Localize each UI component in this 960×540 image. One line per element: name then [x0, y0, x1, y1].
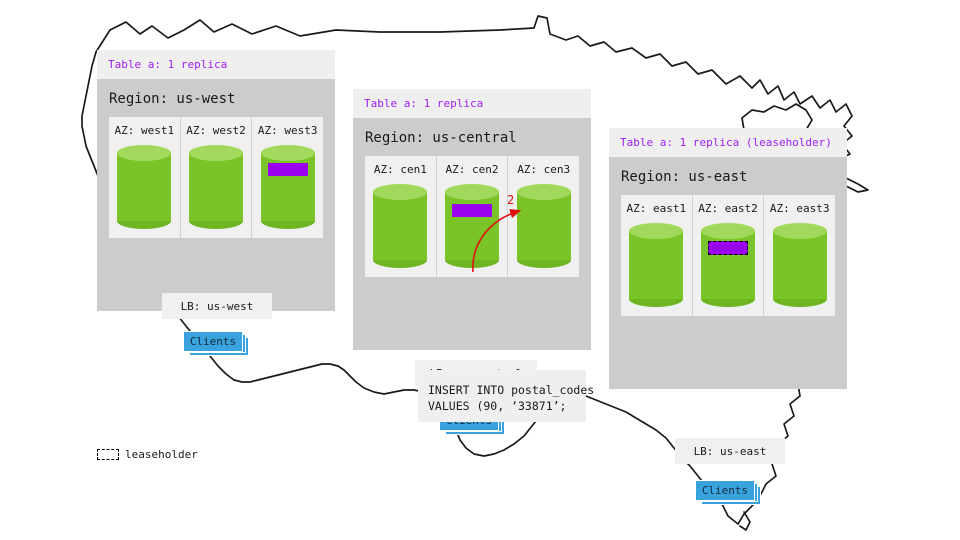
az-cell-cen3[interactable]: AZ: cen3 — [507, 156, 579, 277]
region-body-us-west: Region: us-west AZ: west1 AZ: west2 — [97, 79, 335, 311]
cylinder-body — [189, 153, 243, 221]
az-label-cen3: AZ: cen3 — [508, 163, 579, 176]
az-label-west1: AZ: west1 — [109, 124, 180, 137]
sql-statement-box: INSERT INTO postal_codes VALUES (90, ‘33… — [418, 370, 586, 422]
clients-card-front[interactable]: Clients — [695, 480, 755, 501]
range-replica-west3[interactable] — [268, 163, 308, 176]
az-cell-cen2[interactable]: AZ: cen2 — [436, 156, 508, 277]
cylinder-top — [629, 223, 683, 239]
az-row-us-central: AZ: cen1 AZ: cen2 — [365, 156, 579, 277]
load-balancer-us-east[interactable]: LB: us-east — [675, 438, 785, 464]
cylinder-top — [773, 223, 827, 239]
cylinder-top — [445, 184, 499, 200]
cylinder-top — [117, 145, 171, 161]
az-label-west2: AZ: west2 — [181, 124, 252, 137]
az-label-cen1: AZ: cen1 — [365, 163, 436, 176]
range-replica-cen2[interactable] — [452, 204, 492, 217]
region-panel-us-east: Table a: 1 replica (leaseholder) Region:… — [609, 128, 847, 389]
cylinder-body — [773, 231, 827, 299]
az-row-us-west: AZ: west1 AZ: west2 — [109, 117, 323, 238]
cylinder-wrap-west2 — [181, 145, 252, 229]
node-cylinder-west2[interactable] — [189, 145, 243, 229]
cylinder-wrap-cen1 — [365, 184, 436, 268]
az-label-east1: AZ: east1 — [621, 202, 692, 215]
cylinder-wrap-east3 — [764, 223, 835, 307]
node-cylinder-west3[interactable] — [261, 145, 315, 229]
cylinder-body — [373, 192, 427, 260]
cylinder-body — [117, 153, 171, 221]
cylinder-wrap-cen2 — [437, 184, 508, 268]
replica-banner-us-east: Table a: 1 replica (leaseholder) — [609, 128, 847, 157]
region-title-us-east: Region: us-east — [609, 157, 847, 195]
az-label-east2: AZ: east2 — [693, 202, 764, 215]
cylinder-wrap-cen3 — [508, 184, 579, 268]
region-panel-us-central: Table a: 1 replica Region: us-central AZ… — [353, 89, 591, 350]
az-row-us-east: AZ: east1 AZ: east2 — [621, 195, 835, 316]
node-cylinder-cen1[interactable] — [373, 184, 427, 268]
az-label-west3: AZ: west3 — [252, 124, 323, 137]
cylinder-body — [629, 231, 683, 299]
az-cell-west3[interactable]: AZ: west3 — [251, 117, 323, 238]
cylinder-top — [261, 145, 315, 161]
cylinder-wrap-east1 — [621, 223, 692, 307]
region-body-us-east: Region: us-east AZ: east1 AZ: east2 — [609, 157, 847, 389]
az-cell-west1[interactable]: AZ: west1 — [109, 117, 180, 238]
az-cell-east3[interactable]: AZ: east3 — [763, 195, 835, 316]
node-cylinder-cen3[interactable] — [517, 184, 571, 268]
cylinder-top — [517, 184, 571, 200]
clients-button-us-west[interactable]: Clients — [183, 331, 249, 356]
legend-label: leaseholder — [125, 448, 198, 461]
cylinder-wrap-west1 — [109, 145, 180, 229]
node-cylinder-west1[interactable] — [117, 145, 171, 229]
replica-banner-us-west: Table a: 1 replica — [97, 50, 335, 79]
region-panel-us-west: Table a: 1 replica Region: us-west AZ: w… — [97, 50, 335, 311]
az-cell-east2[interactable]: AZ: east2 — [692, 195, 764, 316]
cylinder-top — [373, 184, 427, 200]
node-cylinder-cen2[interactable] — [445, 184, 499, 268]
cylinder-wrap-east2 — [693, 223, 764, 307]
clients-card-front[interactable]: Clients — [183, 331, 243, 352]
cylinder-body — [445, 192, 499, 260]
diagram-canvas: Table a: 1 replica Region: us-west AZ: w… — [0, 0, 960, 540]
az-cell-west2[interactable]: AZ: west2 — [180, 117, 252, 238]
arrow-step-label-2: 2 — [507, 193, 514, 207]
node-cylinder-east1[interactable] — [629, 223, 683, 307]
region-body-us-central: Region: us-central AZ: cen1 AZ: cen2 — [353, 118, 591, 350]
load-balancer-us-west[interactable]: LB: us-west — [162, 293, 272, 319]
clients-button-us-east[interactable]: Clients — [695, 480, 761, 505]
node-cylinder-east2[interactable] — [701, 223, 755, 307]
region-title-us-west: Region: us-west — [97, 79, 335, 117]
replica-banner-us-central: Table a: 1 replica — [353, 89, 591, 118]
region-title-us-central: Region: us-central — [353, 118, 591, 156]
cylinder-body — [517, 192, 571, 260]
az-label-east3: AZ: east3 — [764, 202, 835, 215]
az-cell-cen1[interactable]: AZ: cen1 — [365, 156, 436, 277]
range-replica-leaseholder-east2[interactable] — [708, 241, 748, 255]
dashed-rect-icon — [97, 449, 119, 460]
node-cylinder-east3[interactable] — [773, 223, 827, 307]
cylinder-top — [701, 223, 755, 239]
az-label-cen2: AZ: cen2 — [437, 163, 508, 176]
az-cell-east1[interactable]: AZ: east1 — [621, 195, 692, 316]
cylinder-wrap-west3 — [252, 145, 323, 229]
cylinder-top — [189, 145, 243, 161]
legend-leaseholder: leaseholder — [97, 448, 198, 461]
